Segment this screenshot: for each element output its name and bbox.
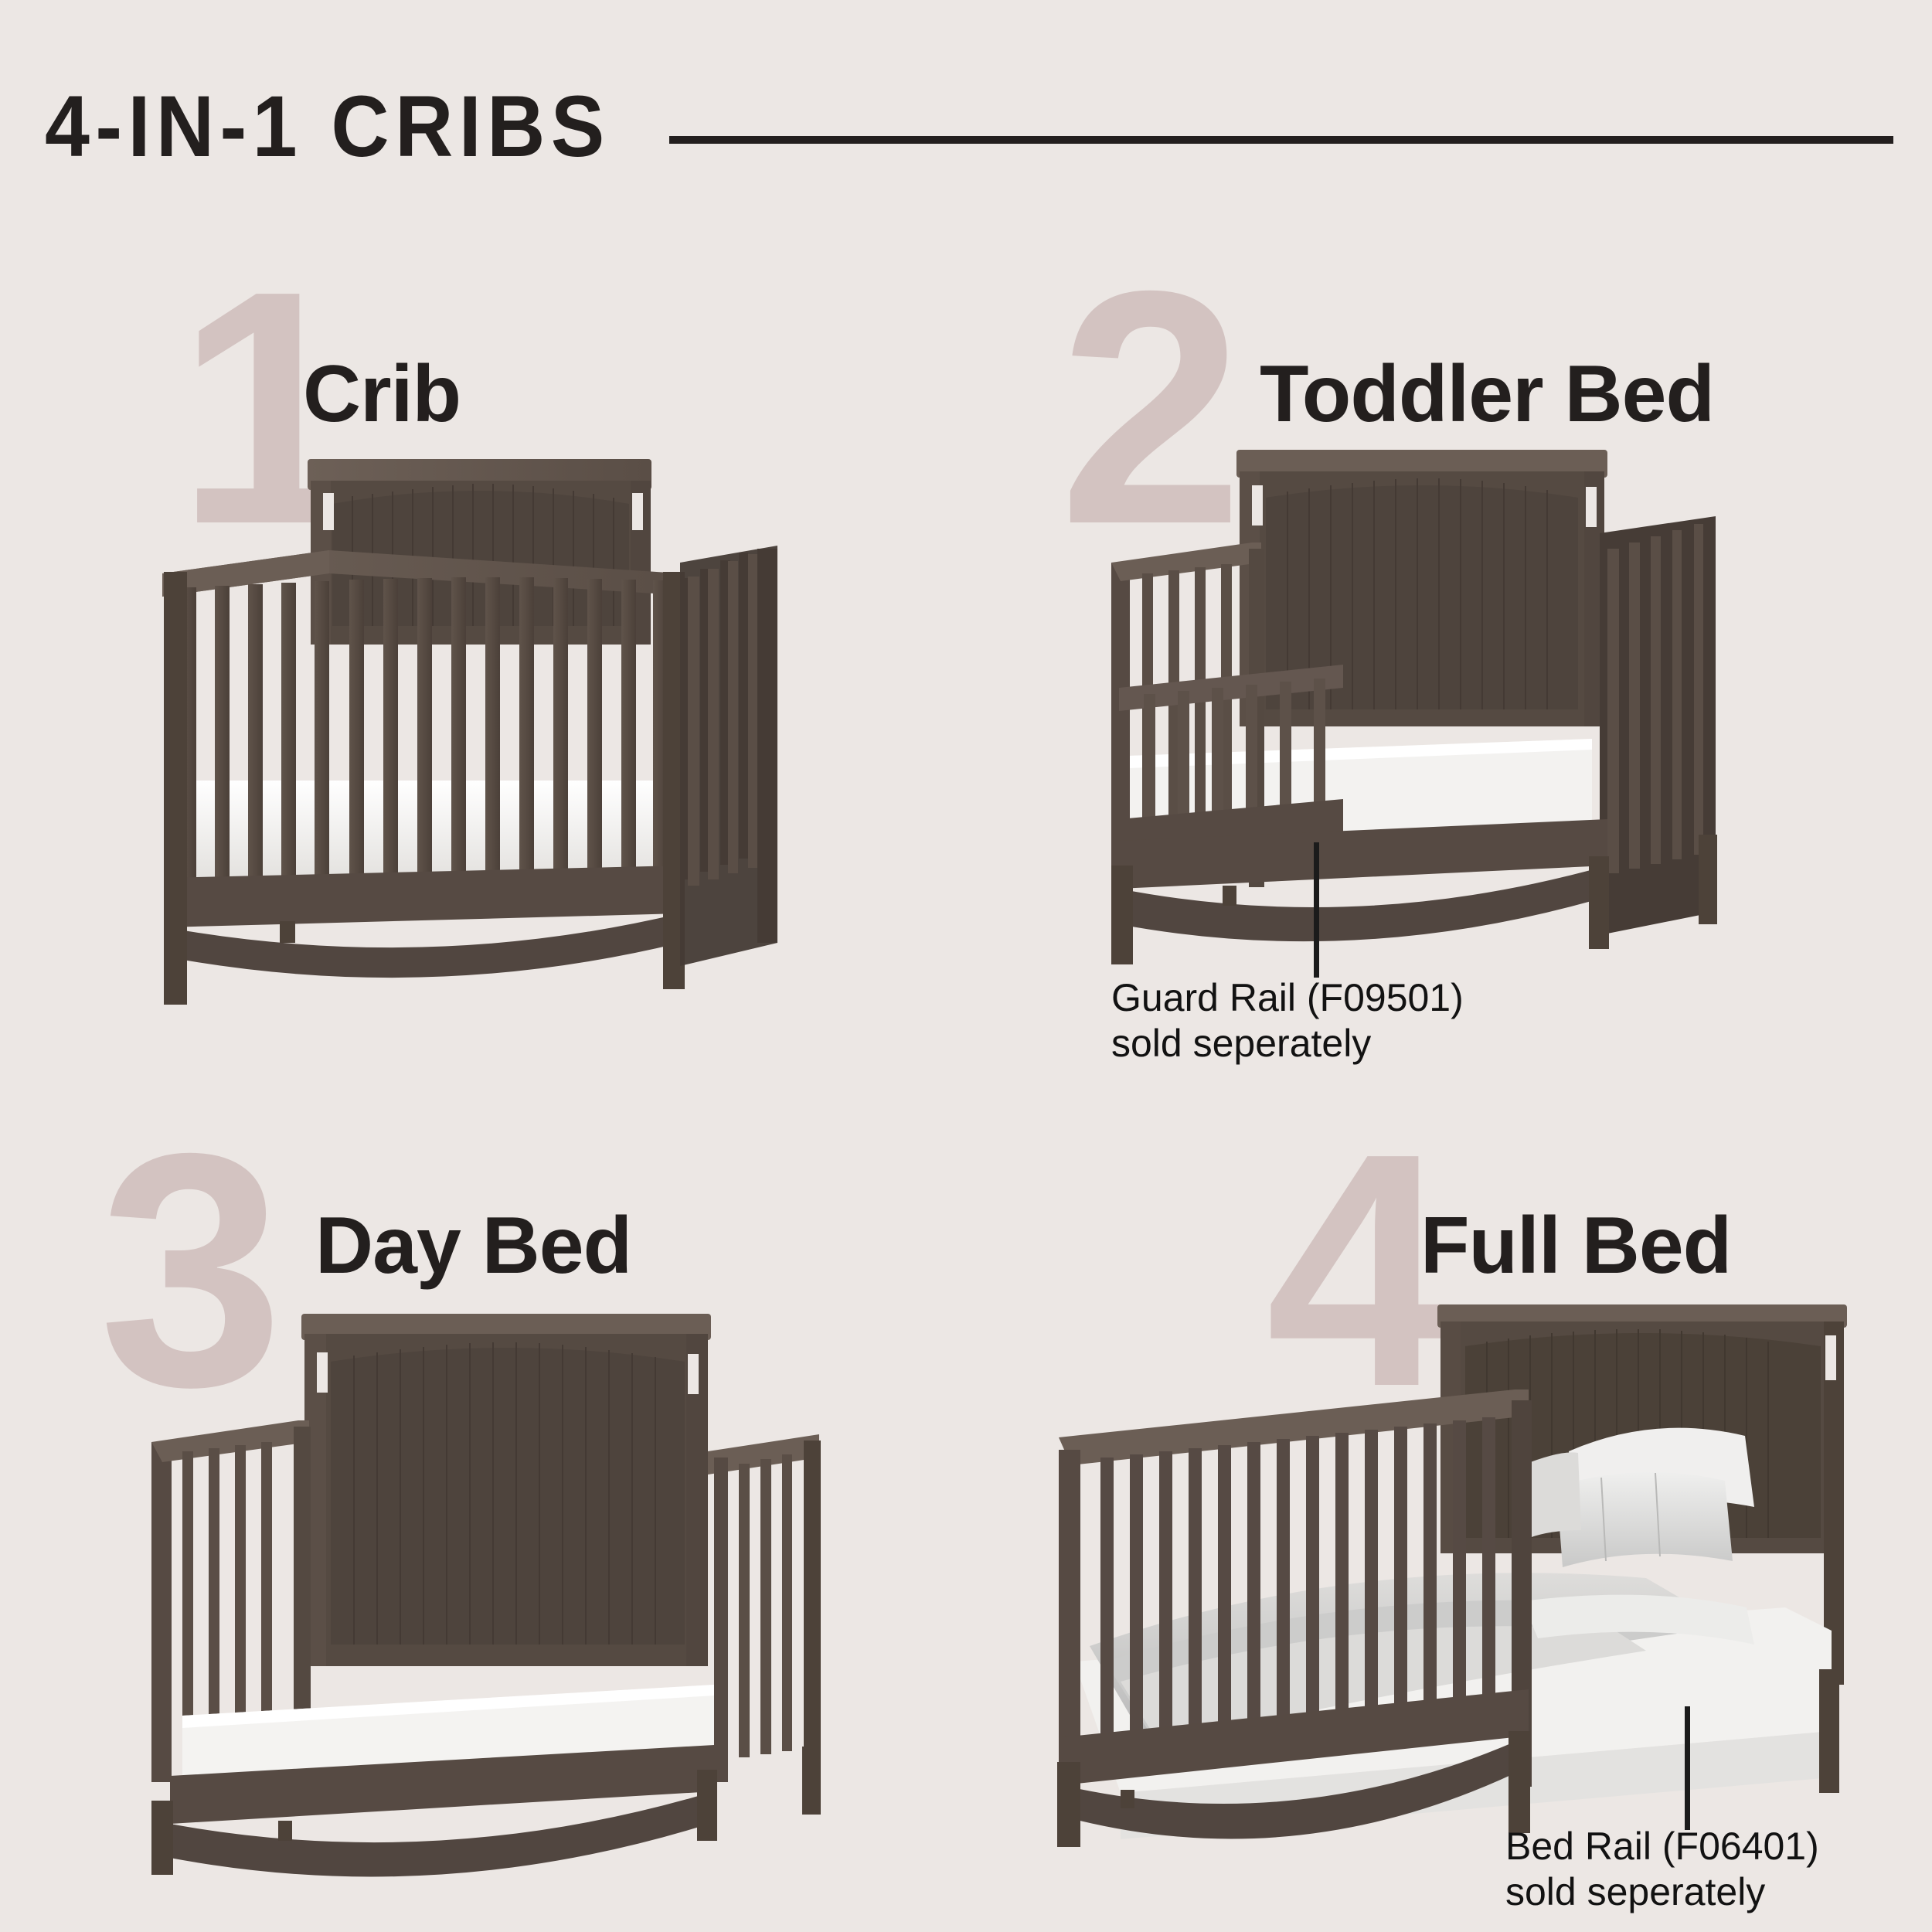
full-bed-illustration <box>1028 1298 1893 1870</box>
step-label-full-bed: Full Bed <box>1420 1206 1731 1286</box>
bed-rail-note: Bed Rail (F06401) sold seperately <box>1505 1824 1819 1915</box>
toddler-bed-illustration <box>1097 433 1808 974</box>
day-bed-illustration <box>139 1298 850 1878</box>
bed-rail-leader-line <box>1685 1706 1690 1830</box>
title-divider-rule <box>669 136 1893 144</box>
crib-mattress <box>192 781 679 881</box>
step-label-day-bed: Day Bed <box>315 1206 631 1286</box>
step-label-toddler-bed: Toddler Bed <box>1260 354 1714 434</box>
page-header: 4-IN-1 CRIBS <box>0 0 1932 201</box>
crib-illustration <box>147 433 858 1020</box>
page-title: 4-IN-1 CRIBS <box>45 83 611 170</box>
daybed-right-side <box>708 1434 821 1782</box>
step-label-crib: Crib <box>303 354 461 434</box>
guard-rail-note: Guard Rail (F09501) sold seperately <box>1111 975 1464 1066</box>
guard-rail-leader-line <box>1314 842 1319 978</box>
daybed-headboard <box>301 1314 711 1666</box>
crib-front-slats <box>181 577 668 896</box>
